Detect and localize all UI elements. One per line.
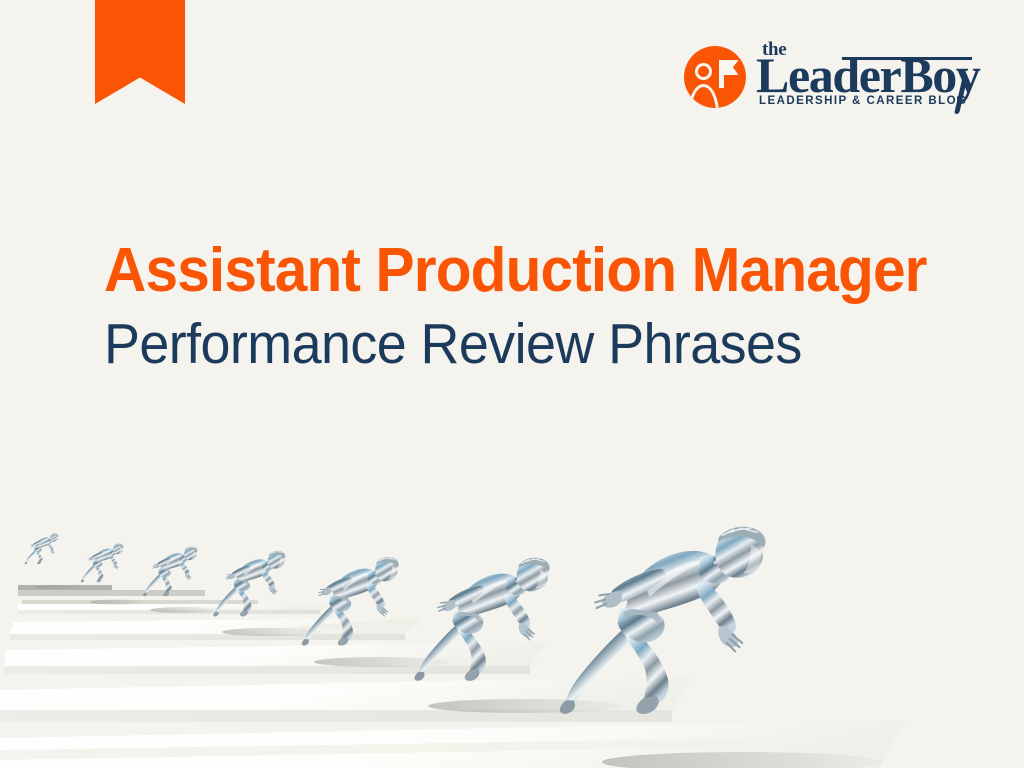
illustration-svg	[0, 438, 1024, 768]
brand-wordmark: the LeaderBoy LEADERSHIP & CAREER BLOG	[756, 42, 974, 114]
logo-head-shape	[695, 63, 712, 80]
brand-logo[interactable]: the LeaderBoy LEADERSHIP & CAREER BLOG	[684, 42, 974, 114]
runner-figure	[81, 544, 124, 583]
step-2	[0, 676, 694, 722]
logo-body-shape	[688, 84, 719, 108]
brand-tagline-label: LEADERSHIP & CAREER BLOG	[759, 95, 967, 107]
brand-name-label: LeaderBoy	[756, 50, 979, 100]
bookmark-ribbon-icon	[95, 0, 185, 104]
runner-figure	[143, 547, 197, 597]
page-subtitle: Performance Review Phrases	[104, 311, 936, 377]
leaderboy-person-flag-icon	[684, 46, 746, 108]
logo-flag-pole-shape	[719, 60, 724, 88]
step-platforms	[0, 585, 905, 768]
logo-flag-shape	[724, 60, 739, 75]
step-3	[4, 642, 548, 674]
chrome-sprinters-illustration	[0, 438, 1024, 768]
runner-figure	[25, 533, 59, 564]
step-4	[10, 618, 420, 640]
poster-canvas: the LeaderBoy LEADERSHIP & CAREER BLOG A…	[0, 0, 1024, 768]
page-title: Assistant Production Manager	[104, 236, 936, 306]
headline-block: Assistant Production Manager Performance…	[104, 236, 984, 377]
